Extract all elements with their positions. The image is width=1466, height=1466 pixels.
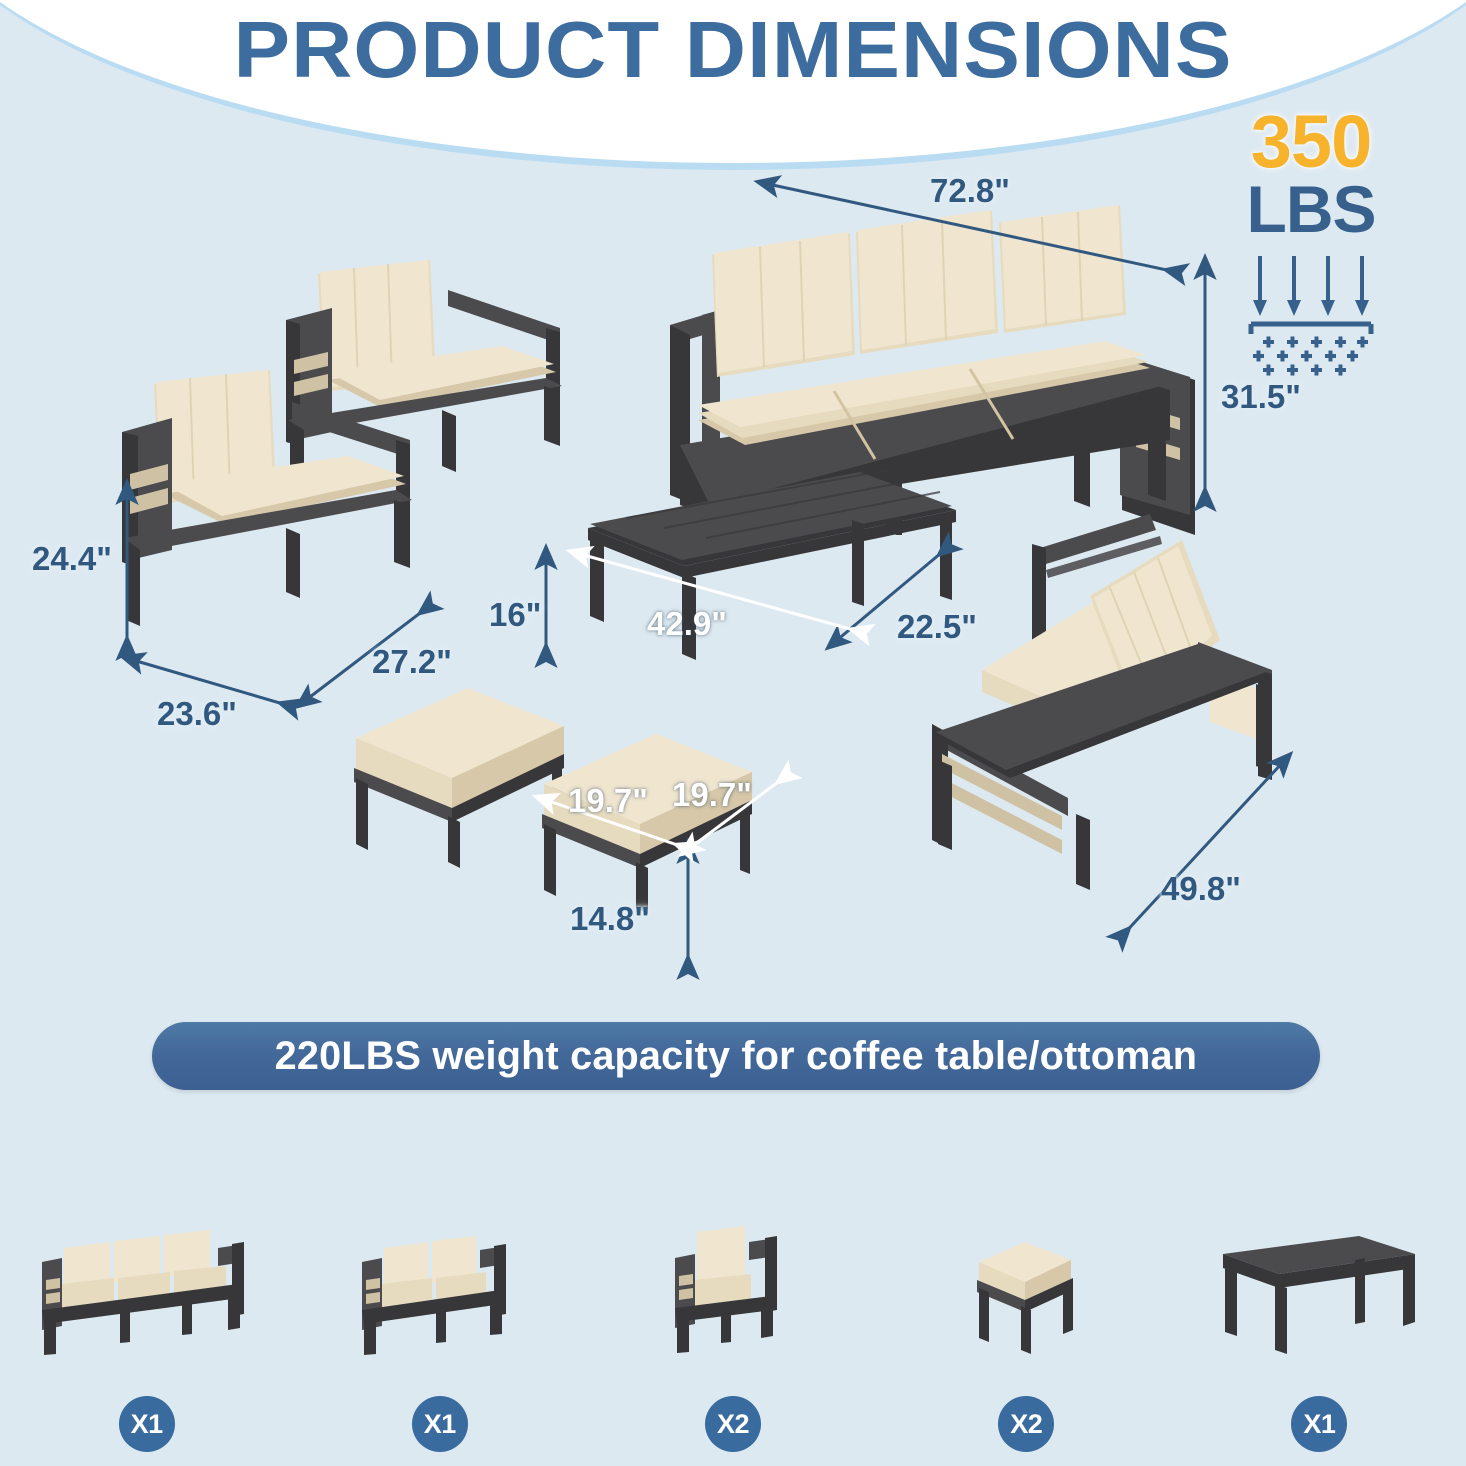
loveseat-illustration (920, 510, 1320, 915)
load-down-arrows-icon (1216, 256, 1406, 318)
dimension-label-ottoman-depth: 19.7" (672, 776, 752, 814)
quantity-cell-sofa: X1 (0, 1172, 293, 1452)
quantity-row: X1 (0, 1172, 1466, 1452)
dimension-label-chair-height: 24.4" (32, 540, 112, 578)
quantity-badge-ottoman: X2 (998, 1396, 1054, 1452)
dimension-label-table-width: 22.5" (897, 608, 977, 646)
dimension-label-sofa-width: 72.8" (930, 172, 1010, 210)
quantity-cell-loveseat: X1 (293, 1172, 586, 1452)
dimension-label-loveseat-width: 49.8" (1161, 870, 1241, 908)
quantity-cell-coffee-table: X1 (1173, 1172, 1466, 1452)
quantity-cell-ottoman: X2 (880, 1172, 1173, 1452)
quantity-badge-loveseat: X1 (412, 1396, 468, 1452)
load-capacity-badge: 350 LBS (1216, 108, 1406, 387)
load-capacity-unit: LBS (1216, 176, 1406, 242)
coffee-table-thumbnail-icon (1209, 1208, 1429, 1358)
dimension-label-chair-width: 23.6" (157, 695, 237, 733)
quantity-badge-armchair: X2 (705, 1396, 761, 1452)
armchair-illustration-front (110, 370, 430, 665)
dimension-label-ottoman-height: 14.8" (570, 900, 650, 938)
coffee-table-illustration (570, 470, 970, 685)
ottoman-illustration-right (528, 728, 768, 923)
ottoman-thumbnail-icon (961, 1208, 1091, 1358)
sofa-thumbnail-icon (32, 1208, 262, 1358)
weight-capacity-text: 220LBS weight capacity for coffee table/… (275, 1034, 1198, 1079)
armchair-thumbnail-icon (663, 1208, 803, 1358)
quantity-cell-armchair: X2 (586, 1172, 879, 1452)
dimension-label-sofa-height: 31.5" (1221, 378, 1301, 416)
loveseat-thumbnail-icon (350, 1208, 530, 1358)
quantity-badge-coffee-table: X1 (1291, 1396, 1347, 1452)
quantity-badge-sofa: X1 (119, 1396, 175, 1452)
dimension-label-ottoman-width: 19.7" (568, 782, 648, 820)
load-capacity-value: 350 (1216, 108, 1406, 176)
dimension-label-table-length: 42.9" (647, 605, 727, 643)
dimension-label-chair-depth: 27.2" (372, 643, 452, 681)
infographic-canvas: PRODUCT DIMENSIONS 350 LBS (0, 0, 1466, 1466)
dimension-label-table-height: 16" (489, 596, 541, 634)
weight-capacity-banner: 220LBS weight capacity for coffee table/… (152, 1022, 1320, 1090)
page-title: PRODUCT DIMENSIONS (0, 4, 1466, 96)
